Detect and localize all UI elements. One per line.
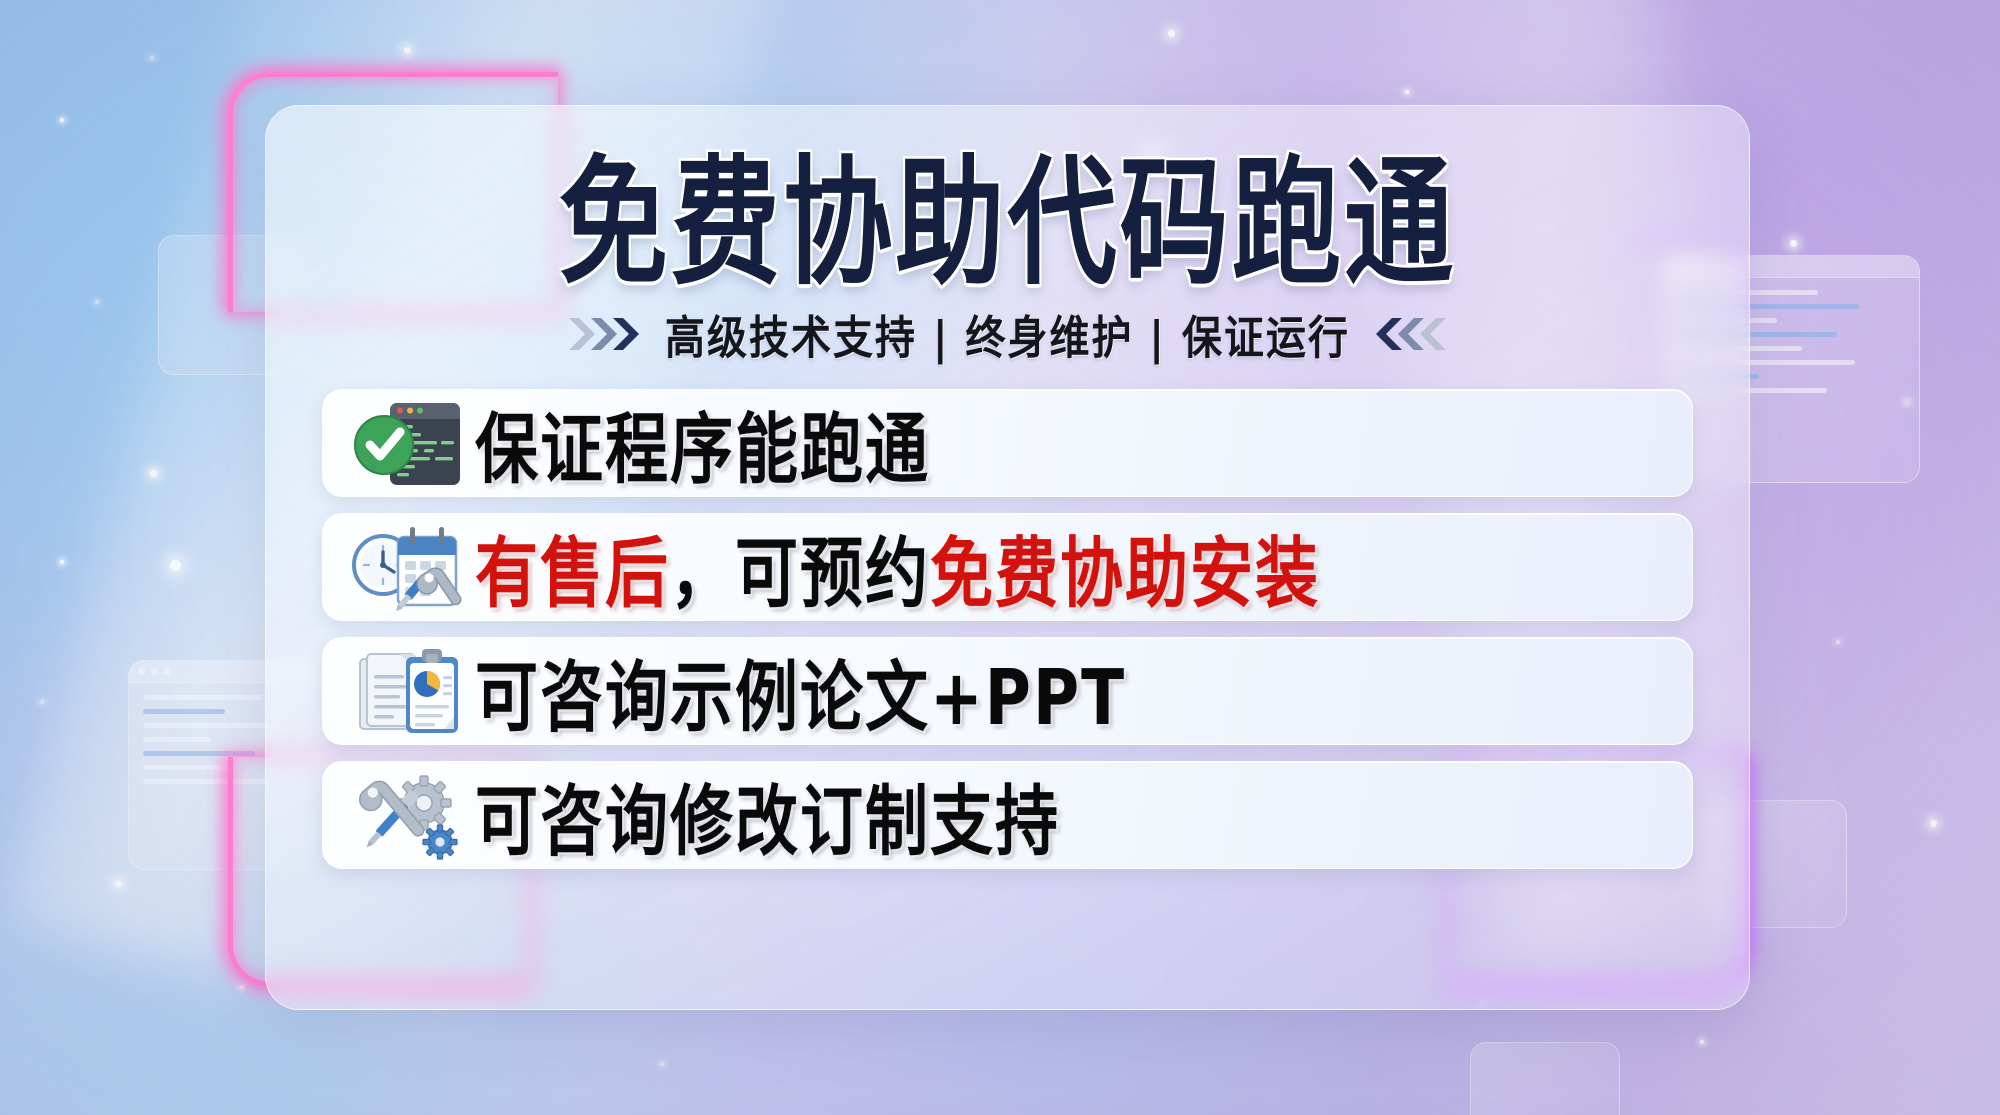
feature-row-sample-paper-ppt[interactable]: 可咨询示例论文+PPT (322, 637, 1693, 745)
label-segment: 保证程序能跑通 (475, 405, 930, 494)
page-title: 免费协助代码跑通 (308, 154, 1706, 296)
documents-clipboard-chart-icon (349, 645, 467, 737)
feature-row-label: 可咨询修改订制支持 (475, 761, 1060, 869)
page-subtitle: 高级技术支持 | 终身维护 | 保证运行 (665, 301, 1350, 367)
label-segment: 可咨询示例论文+PPT (475, 653, 1126, 742)
feature-row-label: 有售后，可预约免费协助安装 (475, 513, 1320, 621)
feature-row-guarantee-run[interactable]: 保证程序能跑通 (322, 389, 1693, 497)
label-segment: 可咨询修改订制支持 (475, 777, 1060, 866)
feature-row-list: 保证程序能跑通 (322, 389, 1693, 869)
feature-row-label: 保证程序能跑通 (475, 389, 930, 497)
label-segment-black: ，可预约 (670, 529, 930, 618)
check-code-window-icon (349, 397, 467, 489)
clock-calendar-wrench-icon (349, 521, 467, 613)
main-glass-panel: 免费协助代码跑通 高级技术支持 | 终身维护 | 保证运行 (265, 105, 1750, 1010)
subtitle-row: 高级技术支持 | 终身维护 | 保证运行 (322, 305, 1693, 363)
label-segment-red: 免费协助安装 (930, 529, 1320, 618)
feature-row-after-sales[interactable]: 有售后，可预约免费协助安装 (322, 513, 1693, 621)
label-segment-red: 有售后 (475, 529, 670, 618)
feature-row-label: 可咨询示例论文+PPT (475, 637, 1126, 745)
chevron-left-triple-icon (1370, 314, 1448, 354)
feature-row-custom-modification[interactable]: 可咨询修改订制支持 (322, 761, 1693, 869)
chevron-right-triple-icon (567, 314, 645, 354)
wrench-gear-screwdriver-icon (349, 769, 467, 861)
